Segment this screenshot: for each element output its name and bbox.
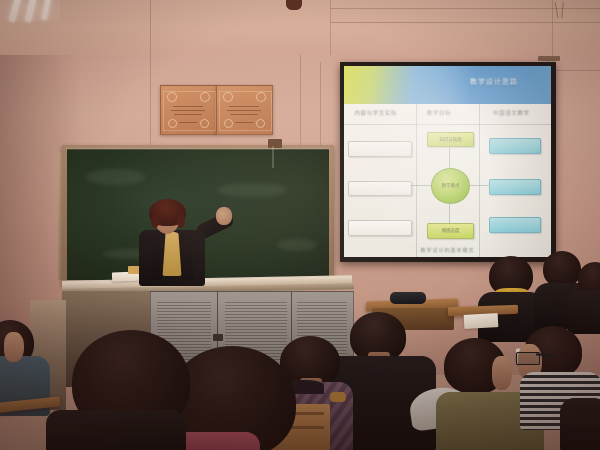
poster-seal-icon	[200, 92, 210, 102]
student-torso	[568, 290, 600, 334]
poster-text-line	[230, 114, 258, 115]
poster-text-line	[227, 110, 261, 111]
slide-center-hub: 教学重点	[431, 168, 470, 204]
blackboard-edge-highlight	[66, 148, 330, 150]
chalk-smudge	[277, 239, 317, 251]
ceiling-fixture-icon	[286, 0, 302, 10]
poster-seal-icon	[167, 92, 177, 102]
slide-body: 内容与学生实际 教学目标 中国语文教学 知识与技能 教学重点 情感态度	[344, 104, 551, 257]
slide-left-item	[348, 141, 412, 157]
ceiling-seam	[330, 8, 600, 9]
slide-divider	[416, 104, 417, 257]
slide-column-head-1: 内容与学生实际	[354, 109, 397, 117]
poster-seal-icon	[256, 119, 265, 128]
slide-surface: 教学设计思路 内容与学生实际 教学目标 中国语文教学 知识与技能 教学重点	[344, 66, 551, 257]
ceiling-seam	[552, 0, 553, 62]
wall-seam	[552, 70, 600, 71]
slide-divider	[479, 104, 480, 257]
poster-text-line	[173, 106, 203, 107]
student-torso	[560, 398, 600, 450]
slide-connector	[410, 185, 431, 186]
classroom-photo: 教学设计思路 内容与学生实际 教学目标 中国语文教学 知识与技能 教学重点	[0, 0, 600, 450]
teacher-hair	[177, 214, 185, 228]
slide-center-item: 知识与技能	[427, 132, 475, 148]
student-face	[4, 332, 24, 362]
certificate-poster-right	[216, 85, 273, 135]
ceiling	[0, 0, 600, 62]
wall-seam	[300, 55, 301, 155]
student-face	[492, 356, 512, 390]
slide-divider	[344, 124, 551, 125]
poster-seal-icon	[223, 92, 233, 102]
paper-sheet[interactable]	[464, 313, 499, 329]
slide-right-item	[489, 217, 541, 233]
slide-connector	[468, 185, 489, 186]
backpack-icon	[390, 292, 426, 304]
slide-footer: 教学设计的基本模式	[344, 247, 551, 254]
slide-left-item	[348, 181, 412, 197]
ceiling-seam	[330, 22, 600, 23]
slide-column-head-2: 教学目标	[427, 109, 451, 117]
slide-connector	[449, 202, 450, 223]
poster-text-line	[235, 122, 253, 123]
certificate-poster-left	[160, 85, 217, 135]
slide-right-item	[489, 179, 541, 195]
student-head	[543, 251, 581, 287]
chalk-smudge	[85, 169, 145, 185]
slide-column-head-3: 中国语文教学	[493, 109, 530, 117]
ceiling-seam	[150, 0, 151, 62]
poster-text-line	[171, 110, 205, 111]
slide-center-item: 情感态度	[427, 223, 475, 239]
teacher-hair	[151, 214, 159, 228]
poster-text-line	[229, 106, 259, 107]
projection-screen[interactable]: 教学设计思路 内容与学生实际 教学目标 中国语文教学 知识与技能 教学重点	[340, 62, 556, 262]
poster-text-line	[174, 114, 202, 115]
wall-seam	[150, 55, 151, 150]
slide-connector	[449, 145, 450, 168]
poster-seal-icon	[224, 119, 233, 128]
slide-header: 教学设计思路	[344, 66, 551, 104]
chair-knob	[330, 392, 346, 402]
ceiling-seam	[330, 0, 331, 62]
board-clip-icon	[268, 139, 282, 148]
poster-seal-icon	[256, 92, 266, 102]
poster-text-line	[179, 122, 197, 123]
light-glow	[0, 0, 60, 22]
teacher-hand	[216, 207, 232, 225]
poster-seal-icon	[168, 119, 177, 128]
slide-right-item	[489, 138, 541, 154]
slide-title: 教学设计思路	[470, 77, 518, 87]
poster-seal-icon	[200, 119, 209, 128]
screen-mount-bracket	[538, 56, 560, 61]
chalk-smudge	[217, 183, 287, 197]
scene-title: Classroom lecture with projected slide	[4, 441, 122, 448]
cabinet-latch-icon[interactable]	[213, 334, 223, 341]
slide-left-item	[348, 220, 412, 236]
board-clip-string	[272, 146, 274, 168]
